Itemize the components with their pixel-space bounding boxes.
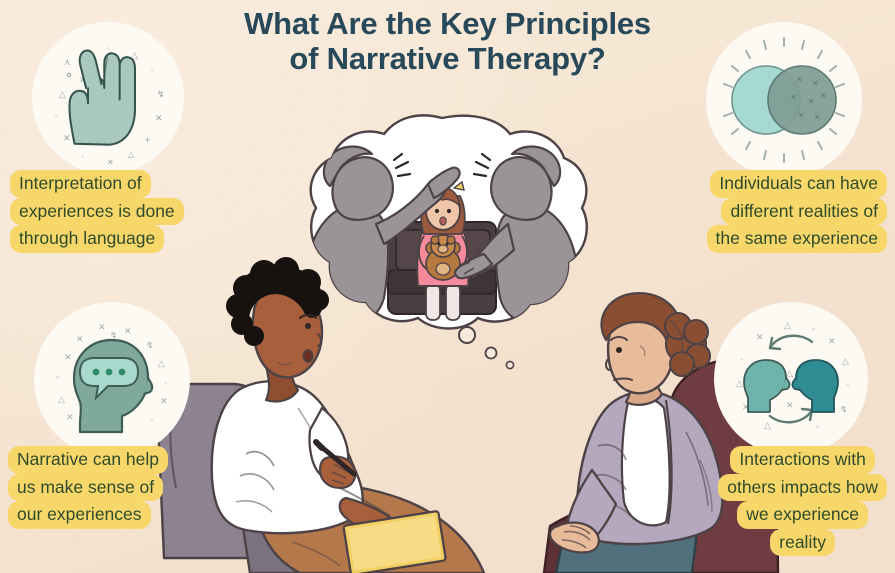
svg-text:↯: ↯ bbox=[840, 404, 848, 414]
page-title: What Are the Key Principles of Narrative… bbox=[0, 6, 895, 77]
callout-line: through language bbox=[10, 225, 164, 253]
svg-text:✕: ✕ bbox=[820, 91, 827, 100]
svg-text:✕: ✕ bbox=[828, 336, 836, 346]
callout-narrative-makes-sense: Narrative can help us make sense of our … bbox=[8, 446, 168, 529]
callout-line: the same experience bbox=[707, 225, 887, 253]
svg-text:◦: ◦ bbox=[740, 354, 743, 364]
svg-text:◦: ◦ bbox=[816, 422, 819, 432]
svg-text:△: △ bbox=[59, 89, 66, 99]
svg-text:✕: ✕ bbox=[786, 400, 794, 410]
callout-line: us make sense of bbox=[8, 474, 163, 502]
svg-text:△: △ bbox=[58, 394, 65, 404]
callout-line: different realities of bbox=[721, 198, 887, 226]
infographic-canvas: What Are the Key Principles of Narrative… bbox=[0, 0, 895, 573]
svg-text:✕: ✕ bbox=[98, 322, 106, 332]
title-line-1: What Are the Key Principles bbox=[244, 6, 651, 41]
svg-text:◦: ◦ bbox=[846, 380, 849, 390]
svg-text:△: △ bbox=[786, 368, 793, 378]
callout-different-realities: Individuals can have different realities… bbox=[707, 170, 887, 253]
svg-text:△: △ bbox=[736, 378, 743, 388]
icon-circle-head-speech: ✕✕ ✕↯ ✕△ ◦◦ △✕ ✕◦ ◦↯ bbox=[34, 302, 190, 458]
svg-text:✕: ✕ bbox=[124, 326, 132, 336]
svg-text:△: △ bbox=[764, 420, 771, 430]
svg-text:✕: ✕ bbox=[155, 113, 163, 123]
svg-text:✕: ✕ bbox=[66, 412, 74, 422]
svg-text:✕: ✕ bbox=[76, 334, 84, 344]
callout-line: we experience bbox=[737, 501, 868, 529]
svg-text:✕: ✕ bbox=[798, 111, 805, 120]
callout-line: others impacts how bbox=[718, 474, 887, 502]
two-heads-exchange-icon: △◦ ✕✕ ◦△ △◦ ✕↯ △◦ △✕ bbox=[716, 304, 866, 454]
svg-text:✕: ✕ bbox=[808, 97, 815, 106]
svg-text:✕: ✕ bbox=[64, 352, 72, 362]
svg-text:◦: ◦ bbox=[81, 152, 84, 161]
svg-text:✕: ✕ bbox=[812, 79, 819, 88]
svg-text:↯: ↯ bbox=[146, 340, 154, 350]
svg-text:◦: ◦ bbox=[150, 414, 153, 424]
svg-text:△: △ bbox=[784, 320, 791, 330]
svg-text:△: △ bbox=[842, 356, 849, 366]
svg-text:↯: ↯ bbox=[110, 330, 118, 340]
svg-text:△: △ bbox=[158, 358, 165, 368]
svg-text:↯: ↯ bbox=[157, 89, 165, 99]
callout-line: Individuals can have bbox=[710, 170, 887, 198]
callout-line: experiences is done bbox=[10, 198, 184, 226]
callout-interpretation-language: Interpretation of experiences is done th… bbox=[10, 170, 184, 253]
svg-text:◦: ◦ bbox=[56, 372, 59, 382]
head-with-speech-bubble-icon: ✕✕ ✕↯ ✕△ ◦◦ △✕ ✕◦ ◦↯ bbox=[36, 304, 188, 456]
title-line-2: of Narrative Therapy? bbox=[0, 41, 895, 76]
svg-text:△: △ bbox=[128, 150, 135, 159]
thought-trail-bubbles bbox=[455, 325, 525, 375]
svg-text:+: + bbox=[145, 135, 150, 145]
svg-text:✕: ✕ bbox=[756, 332, 764, 342]
callout-line: Narrative can help bbox=[8, 446, 168, 474]
callout-line: Interactions with bbox=[730, 446, 874, 474]
callout-interactions-shape-reality: Interactions with others impacts how we … bbox=[718, 446, 887, 556]
svg-text:◦: ◦ bbox=[164, 378, 167, 388]
svg-text:✕: ✕ bbox=[790, 93, 797, 102]
svg-text:◦: ◦ bbox=[55, 112, 58, 121]
callout-line: reality bbox=[770, 529, 835, 557]
svg-text:◦: ◦ bbox=[812, 324, 815, 334]
svg-text:✕: ✕ bbox=[107, 158, 114, 167]
callout-line: Interpretation of bbox=[10, 170, 151, 198]
callout-line: our experiences bbox=[8, 501, 151, 529]
svg-text:✕: ✕ bbox=[63, 133, 71, 143]
icon-circle-two-heads-exchange: △◦ ✕✕ ◦△ △◦ ✕↯ △◦ △✕ bbox=[714, 302, 868, 456]
memory-thought-bubble bbox=[292, 112, 592, 342]
svg-text:✕: ✕ bbox=[160, 396, 168, 406]
svg-text:✕: ✕ bbox=[814, 113, 821, 122]
